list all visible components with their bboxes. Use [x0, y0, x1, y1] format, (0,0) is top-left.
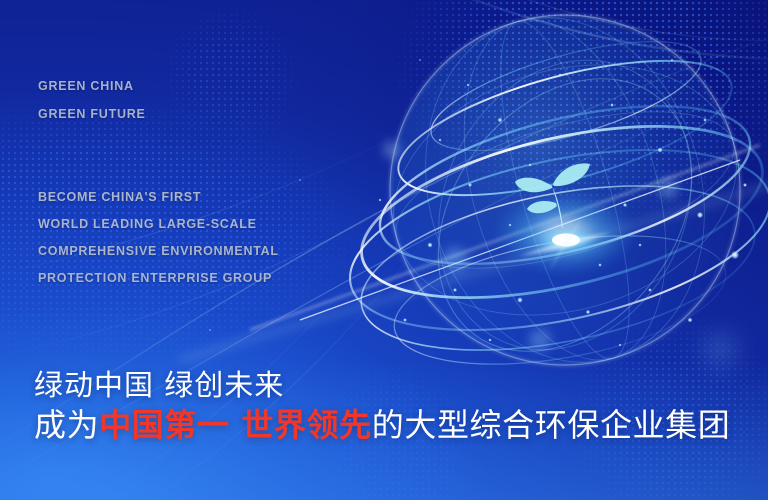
chinese-headline-block: 绿动中国 绿创未来 成为中国第一 世界领先的大型综合环保企业集团 — [34, 366, 730, 446]
green-china-banner: GREEN CHINA GREEN FUTURE BECOME CHINA'S … — [0, 0, 768, 500]
english-tagline-line-2: GREEN FUTURE — [38, 100, 146, 128]
english-slogan-line-1: BECOME CHINA'S FIRST — [38, 184, 279, 211]
english-slogan-line-4: PROTECTION ENTERPRISE GROUP — [38, 265, 279, 292]
globe-sphere — [390, 15, 740, 365]
chinese-headline-line-2: 成为中国第一 世界领先的大型综合环保企业集团 — [34, 404, 730, 446]
core-glow — [493, 191, 637, 275]
chinese-headline-prefix: 成为 — [34, 406, 99, 444]
chinese-headline-suffix: 的大型综合环保企业集团 — [372, 406, 731, 444]
bokeh-blobs — [383, 141, 734, 364]
english-slogan-line-3: COMPREHENSIVE ENVIRONMENTAL — [38, 238, 279, 265]
chinese-headline-line-1: 绿动中国 绿创未来 — [34, 366, 730, 404]
globe-orbital-rings — [334, 18, 768, 401]
english-slogan-line-2: WORLD LEADING LARGE-SCALE — [38, 211, 279, 238]
core-burst — [520, 216, 612, 272]
english-tagline-top: GREEN CHINA GREEN FUTURE — [38, 72, 146, 128]
english-tagline-line-1: GREEN CHINA — [38, 72, 146, 100]
chinese-headline-highlight: 中国第一 世界领先 — [99, 406, 372, 444]
sprout-seedling-icon — [515, 163, 590, 228]
english-slogan-block: BECOME CHINA'S FIRST WORLD LEADING LARGE… — [38, 184, 279, 292]
globe-meridians — [364, 0, 767, 396]
